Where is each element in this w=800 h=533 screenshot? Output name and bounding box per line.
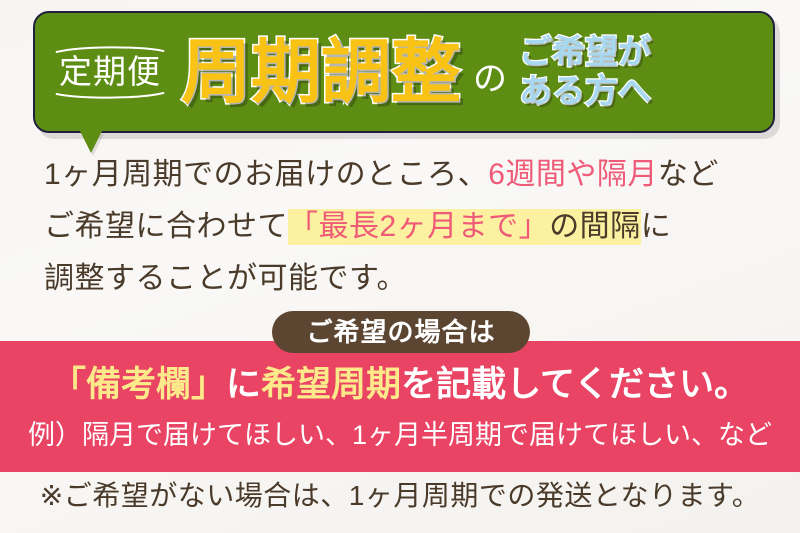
body-line-2: ご希望に合わせて「最長2ヶ月まで」の間隔に	[44, 201, 774, 253]
footnote-text: ※ご希望がない場合は、1ヶ月周期での発送となります。	[0, 482, 800, 510]
badge-decor-line-bottom	[55, 90, 165, 100]
pink-main-part-d: を記載してください。	[401, 365, 749, 404]
pink-example-text: 例）隔月で届けてほしい、1ヶ月半周期で届けてほしい、など	[0, 422, 800, 449]
section-pill-label: ご希望の場合は	[306, 319, 495, 345]
badge-decor-line-top	[55, 45, 165, 55]
pink-callout-band: 「備考欄」に希望周期を記載してください。 例）隔月で届けてほしい、1ヶ月半周期で…	[0, 341, 800, 472]
promotional-banner: 定期便 周期調整 の ご希望が ある方へ 1ヶ月周期でのお届けのところ、6週間や…	[0, 0, 800, 533]
section-pill-badge: ご希望の場合は	[272, 311, 530, 353]
subscription-badge: 定期便	[53, 43, 167, 102]
body-line-1: 1ヶ月周期でのお届けのところ、6週間や隔月など	[44, 149, 774, 201]
pink-main-part-a: 「備考欄」	[51, 365, 226, 404]
pink-main-text: 「備考欄」に希望周期を記載してください。	[0, 367, 800, 402]
body-line-2-part-a: ご希望に合わせて	[44, 210, 288, 243]
body-line-1-part-a: 1ヶ月周期でのお届けのところ、	[44, 158, 488, 191]
pink-main-part-b: に	[226, 365, 261, 404]
headline-title: 周期調整	[181, 37, 461, 107]
body-line-1-emphasis: 6週間や隔月	[488, 158, 658, 191]
headline-connector: の	[473, 62, 507, 96]
header-speech-box: 定期便 周期調整 の ご希望が ある方へ	[33, 11, 775, 133]
headline-subtext-line2: ある方へ	[519, 73, 651, 110]
body-line-3: 調整することが可能です。	[44, 253, 774, 305]
body-line-2-emphasis: 「最長2ヶ月まで」	[288, 209, 549, 245]
body-paragraph: 1ヶ月周期でのお届けのところ、6週間や隔月など ご希望に合わせて「最長2ヶ月まで…	[44, 149, 774, 305]
body-line-2-part-d: に	[641, 210, 672, 243]
body-line-1-part-c: など	[658, 158, 719, 191]
badge-label: 定期便	[59, 55, 161, 88]
body-line-2-highlight: の間隔	[549, 209, 641, 245]
headline-subtext: ご希望が ある方へ	[519, 34, 651, 110]
headline-subtext-line1: ご希望が	[519, 34, 651, 71]
pink-main-part-c: 希望周期	[261, 365, 401, 404]
